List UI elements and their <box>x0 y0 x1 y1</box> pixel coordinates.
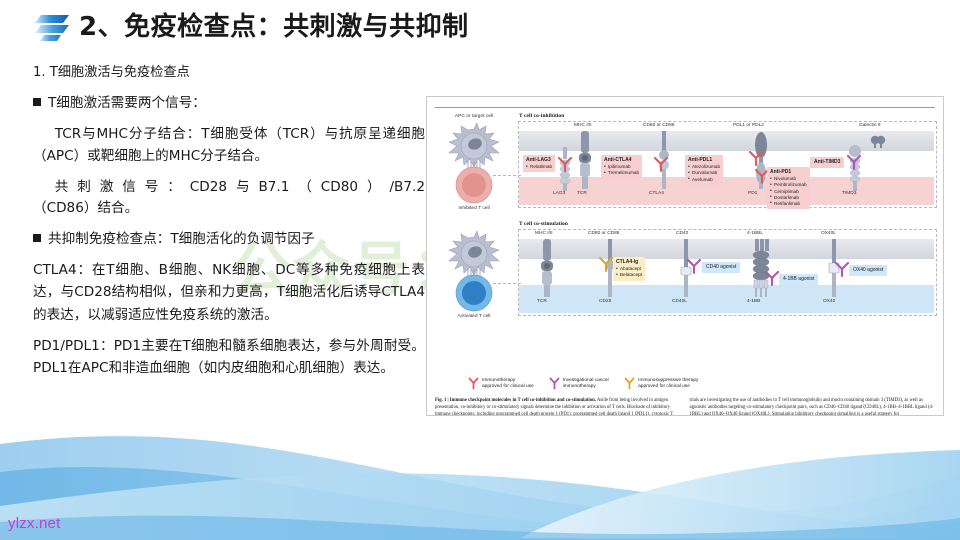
cd40-agonist-antibody-icon <box>685 257 703 275</box>
page-title: 2、免疫检查点：共刺激与共抑制 <box>79 14 469 40</box>
drug-box-anti-timd3: Anti-TIMD3 <box>810 157 844 168</box>
figure-caption: Fig. 1 | Immune checkpoint molecules in … <box>435 398 935 416</box>
ligand-label-mhc-2: MHC I/II <box>535 231 553 236</box>
legend-2-line2: immunotherapy <box>563 384 596 389</box>
anti-timd3-antibody-icon <box>845 153 863 171</box>
receptor-label-ox40: OX40 <box>823 299 835 304</box>
connector-dash-bottom <box>493 283 521 284</box>
square-bullet-icon-2 <box>33 234 41 242</box>
drug-name-anti-ctla4: Anti-CTLA4 <box>604 157 639 164</box>
receptor-label-pd1: PD1 <box>748 191 757 196</box>
bottom-wave-decoration <box>0 410 960 540</box>
inhibited-t-cell-illustration <box>449 165 499 205</box>
apc-membrane-bottom <box>519 239 934 259</box>
paragraph-1: TCR与MHC分子结合：T细胞受体（TCR）与抗原呈递细胞（APC）或靶细胞上的… <box>33 123 425 167</box>
caption-fig-label: Fig. 1 | <box>435 398 449 403</box>
receptor-label-4-1bb: 4-1BB <box>747 299 760 304</box>
slide-root: 公众号：Cmbaed ylzx.net 2、免疫检查点：共刺激与共抑制 1. T… <box>0 0 960 540</box>
body-text-column: 1. T细胞激活与免疫检查点 T细胞激活需要两个信号： TCR与MHC分子结合：… <box>33 62 425 388</box>
panel-title-co-inhibition: T cell co-inhibition <box>519 113 564 119</box>
drug-name-anti-pdl1: Anti-PDL1 <box>688 157 720 164</box>
ligand-label-mhc-1: MHC I/II <box>574 123 592 128</box>
inhibited-t-cell-label: Inhibited T cell <box>433 206 515 211</box>
mhc-tcr-complex-icon-2 <box>539 239 555 297</box>
drug-box-anti-lag3: Anti-LAG3 Relatlimab <box>523 155 555 172</box>
drug-name-anti-pd1: Anti-PD1 <box>770 169 807 176</box>
receptor-label-cd28: CD28 <box>599 299 611 304</box>
paragraph-3: CTLA4：在T细胞、B细胞、NK细胞、DC等多种免疫细胞上表达，与CD28结构… <box>33 259 425 325</box>
bullet-2-label: 共抑制免疫检查点：T细胞活化的负调节因子 <box>48 231 315 247</box>
anti-ctla4-antibody-icon <box>652 155 670 173</box>
drug-name-anti-lag3: Anti-LAG3 <box>526 157 552 164</box>
galectin9-icon <box>870 133 886 149</box>
connector-dash-top <box>493 175 521 176</box>
receptor-label-tcr-2: TCR <box>537 299 547 304</box>
ligand-label-cd80-cd86-2: CD80 or CD86 <box>588 231 619 236</box>
apc-top-label: APC or target cell <box>433 114 515 119</box>
paragraph-2-line1: 共刺激信号：CD28与B7.1（CD80）/B7.2 <box>33 176 425 198</box>
drug-box-anti-pdl1: Anti-PDL1 Atezolizumab Durvalumab Avelum… <box>685 155 723 185</box>
4-1bbl-4-1bb-complex-icon <box>751 239 771 297</box>
paragraph-2-line2: （CD86）结合。 <box>33 197 425 219</box>
drug-box-4-1bb-agonist: 4-1BB agonist <box>779 274 818 285</box>
activated-t-cell-cytoplasm <box>519 285 934 313</box>
paragraph-4: PD1/PDL1：PD1主要在T细胞和髓系细胞表达，参与外周耐受。PDL1在AP… <box>33 335 425 379</box>
legend-1-line2: approved for clinical use <box>482 384 534 389</box>
legend-antibody-purple-icon <box>548 376 561 390</box>
ligand-label-ox40l: OX40L <box>821 231 836 236</box>
drug-name-ctla4-ig: CTLA4-Ig <box>616 259 642 266</box>
drug-box-anti-ctla4: Anti-CTLA4 Ipilimumab Tremelimumab <box>601 155 642 179</box>
anti-pdl1-antibody-icon <box>747 149 765 167</box>
bullet-item-1: T细胞激活需要两个信号： <box>33 92 425 114</box>
drug-name-ox40-agonist: OX40 agonist <box>853 267 883 274</box>
watermark-site: ylzx.net <box>8 515 60 532</box>
receptor-label-cd40l: CD40L <box>672 299 687 304</box>
activated-t-cell-illustration <box>449 273 499 313</box>
legend-item-3: Immunosuppressive therapyapproved for cl… <box>623 376 698 391</box>
figure-legend: Immunotherapyapproved for clinical use I… <box>467 376 698 391</box>
receptor-label-lag3: LAG3 <box>553 191 565 196</box>
anti-lag3-antibody-icon <box>556 155 574 173</box>
square-bullet-icon <box>33 98 41 106</box>
section-heading: 1. T细胞激活与免疫检查点 <box>33 62 425 83</box>
legend-1-line1: Immunotherapy <box>482 378 515 383</box>
legend-3-line2: approved for clinical use <box>638 384 690 389</box>
bullet-item-2: 共抑制免疫检查点：T细胞活化的负调节因子 <box>33 228 425 250</box>
immune-checkpoint-figure: T cell co-inhibition APC or target cell <box>426 96 944 416</box>
drug-box-ctla4-ig: CTLA4-Ig Abatacept Belatacept <box>613 257 645 281</box>
bullet-1-label: T细胞激活需要两个信号： <box>48 95 206 111</box>
drug-item: Relatlimab <box>526 164 552 170</box>
caption-bold-title: Immune checkpoint molecules in T cell co… <box>450 398 596 403</box>
slide-title-row: 2、免疫检查点：共刺激与共抑制 <box>35 12 469 42</box>
drug-name-cd40-agonist: CD40 agonist <box>706 264 736 271</box>
receptor-label-tcr: TCR <box>577 191 587 196</box>
ligand-label-galectin9: Galectin 9 <box>859 123 881 128</box>
legend-antibody-red-icon <box>467 376 480 390</box>
drug-box-cd40-agonist: CD40 agonist <box>702 262 740 273</box>
caption-column-2: trials are investigating the use of anti… <box>690 398 936 416</box>
receptor-label-timd3: TIMD3 <box>842 191 856 196</box>
legend-antibody-yellow-icon <box>623 376 636 390</box>
receptor-label-ctla4: CTLA4 <box>649 191 664 196</box>
drug-name-anti-timd3: Anti-TIMD3 <box>814 159 840 166</box>
blue-stacked-bars-logo <box>35 12 69 42</box>
legend-2-line1: Investigational cancer <box>563 378 609 383</box>
legend-item-1: Immunotherapyapproved for clinical use <box>467 376 534 391</box>
activated-t-cell-label: Activated T cell <box>433 314 515 319</box>
drug-item: Avelumab <box>688 177 720 183</box>
caption-column-1: Fig. 1 | Immune checkpoint molecules in … <box>435 398 681 416</box>
drug-box-ox40-agonist: OX40 agonist <box>849 265 887 276</box>
legend-item-2: Investigational cancerimmunotherapy <box>548 376 609 391</box>
drug-item: Tremelimumab <box>604 170 639 176</box>
drug-item: Belatacept <box>616 272 642 278</box>
figure-top-rule <box>435 107 935 108</box>
ligand-label-4-1bbl: 4-1BBL <box>747 231 763 236</box>
legend-3-line1: Immunosuppressive therapy <box>638 378 698 383</box>
ligand-label-cd40: CD40 <box>676 231 688 236</box>
drug-name-4-1bb-agonist: 4-1BB agonist <box>783 276 814 283</box>
ligand-label-cd80-cd86-1: CD80 or CD86 <box>643 123 674 128</box>
drug-item: Retifanlimab <box>770 201 807 207</box>
ligand-label-pdl1-pdl2: PDL1 or PDL2 <box>733 123 764 128</box>
panel-title-co-stimulation: T cell co-stimulation <box>519 221 568 227</box>
mhc-tcr-complex-icon <box>577 131 593 189</box>
drug-box-anti-pd1: Anti-PD1 Nivolumab Pembrolizumab Cemipli… <box>767 167 810 209</box>
